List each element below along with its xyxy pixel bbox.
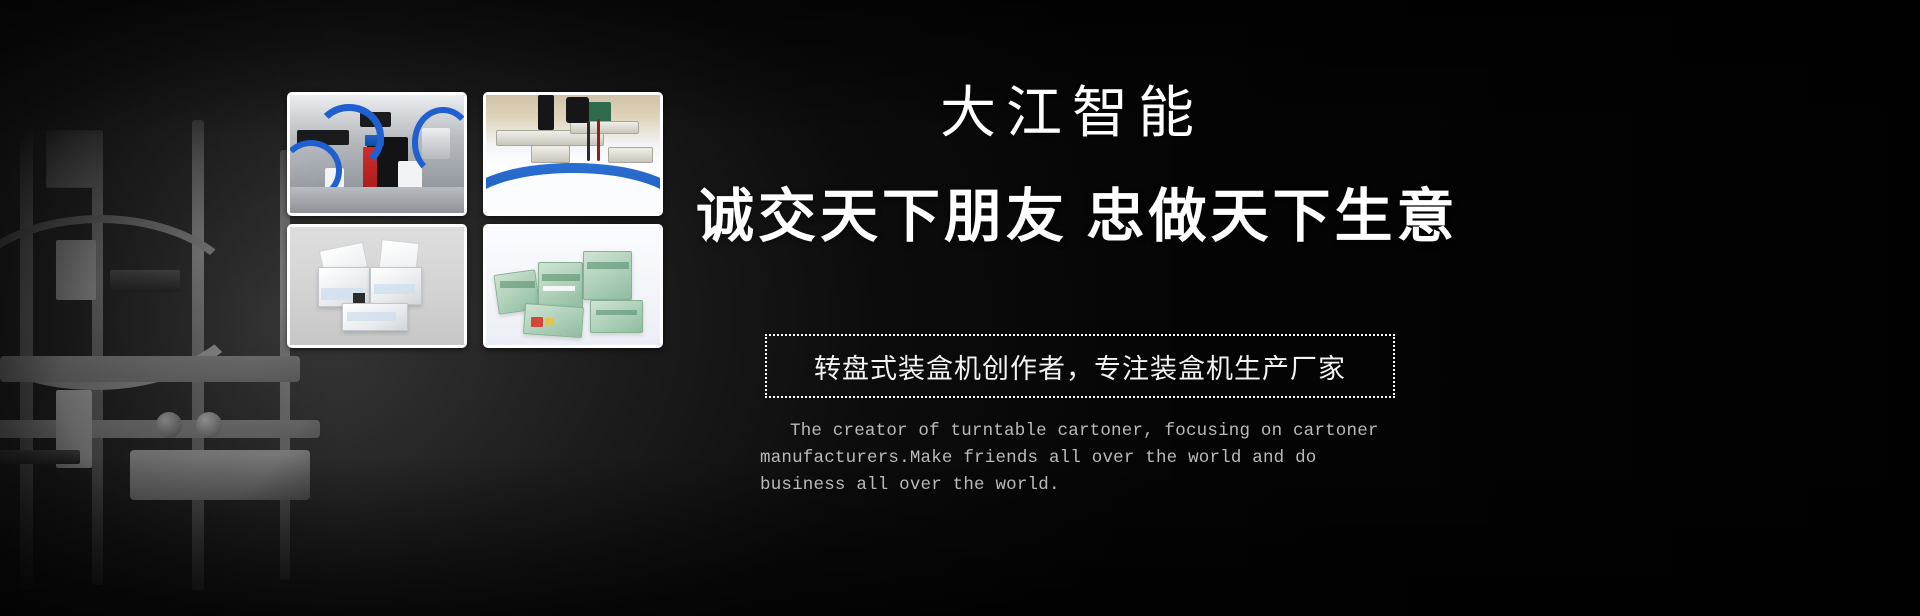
- white-cartons-image: [290, 227, 464, 345]
- green-pharma-boxes-image: [486, 227, 660, 345]
- tagline-dashed-box: 转盘式装盒机创作者，专注装盒机生产厂家: [765, 334, 1395, 398]
- gallery-tile-cartoner-machine[interactable]: [287, 92, 467, 216]
- gallery-tile-white-cartons[interactable]: [287, 224, 467, 348]
- hero-banner: 大江智能 诚交天下朋友 忠做天下生意 转盘式装盒机创作者，专注装盒机生产厂家 T…: [0, 0, 1920, 616]
- cartoner-machine-image: [290, 95, 464, 213]
- product-image-grid: [287, 92, 663, 350]
- banner-copy: 大江智能 诚交天下朋友 忠做天下生意 转盘式装盒机创作者，专注装盒机生产厂家 T…: [700, 0, 1850, 616]
- banner-headline: 诚交天下朋友 忠做天下生意: [696, 185, 1459, 249]
- robot-gripper-image: [486, 95, 660, 213]
- gallery-tile-green-pharma-boxes[interactable]: [483, 224, 663, 348]
- tagline-text: 转盘式装盒机创作者，专注装盒机生产厂家: [814, 347, 1346, 386]
- gallery-tile-robot-gripper[interactable]: [483, 92, 663, 216]
- banner-english-paragraph: The creator of turntable cartoner, focus…: [760, 418, 1408, 499]
- brand-title: 大江智能: [940, 86, 1204, 142]
